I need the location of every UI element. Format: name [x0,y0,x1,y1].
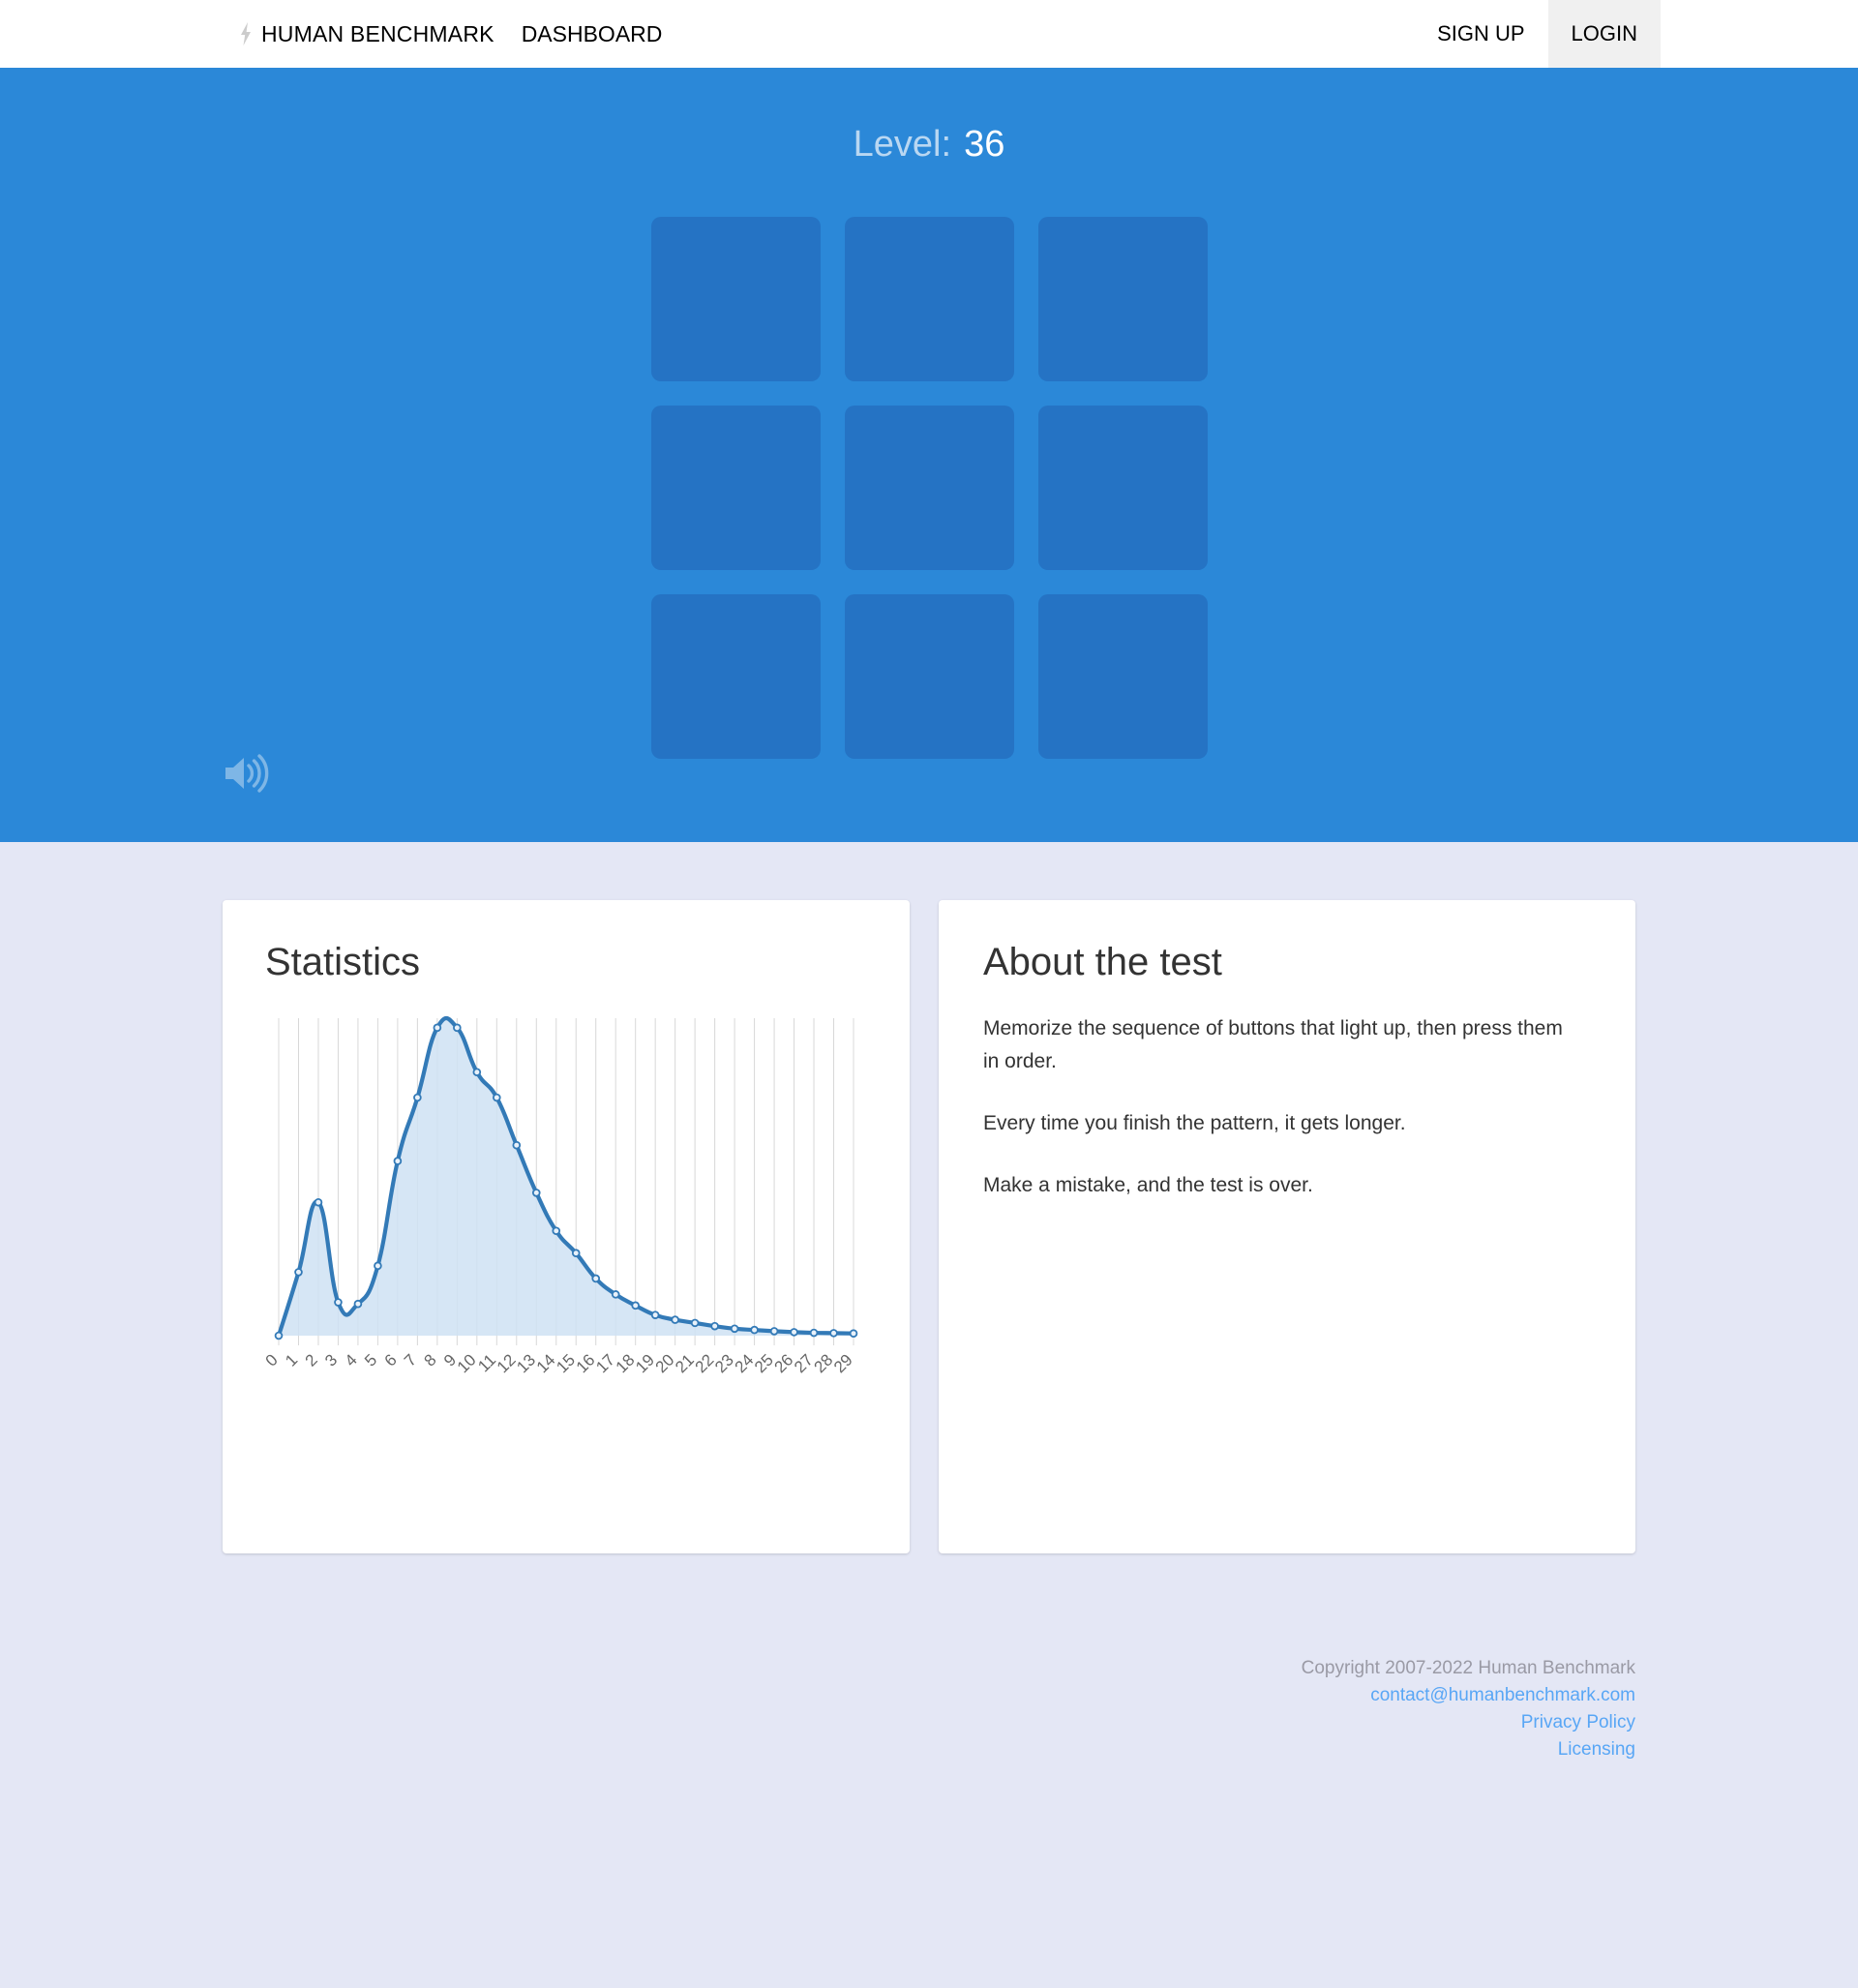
page-footer: Copyright 2007-2022 Human Benchmark cont… [223,1553,1635,1967]
x-axis-tick-label: 0 [265,1350,282,1370]
grid-cell-3[interactable] [1038,217,1208,381]
data-point [533,1190,540,1196]
x-axis-tick-label: 3 [321,1350,341,1370]
top-navbar: HUMAN BENCHMARK DASHBOARD SIGN UP LOGIN [0,0,1858,68]
navbar-right-group: SIGN UP LOGIN [1414,0,1661,68]
data-point [632,1302,639,1309]
data-point [494,1095,500,1101]
lightning-bolt-icon [238,22,254,45]
grid-cell-2[interactable] [845,217,1014,381]
speaker-volume-icon[interactable] [221,751,271,796]
level-indicator: Level: 36 [854,126,1005,163]
footer-contact-line: contact@humanbenchmark.com [223,1682,1635,1709]
data-point [276,1333,283,1340]
grid-cell-9[interactable] [1038,594,1208,759]
licensing-link[interactable]: Licensing [1558,1736,1635,1763]
grid-cell-7[interactable] [651,594,821,759]
grid-cell-8[interactable] [845,594,1014,759]
data-point [414,1095,421,1101]
x-axis-tick-label: 8 [421,1350,440,1370]
x-axis-tick-label: 4 [342,1350,361,1370]
level-label: Level: [854,126,951,163]
x-axis-tick-label: 1 [282,1350,301,1370]
data-point [295,1269,302,1276]
x-axis-tick-label: 7 [401,1350,420,1370]
statistics-chart: 0123456789101112131415161718192021222324… [265,1009,865,1425]
footer-copyright-line: Copyright 2007-2022 Human Benchmark [223,1655,1635,1682]
data-point [851,1330,857,1337]
data-point [811,1330,818,1337]
data-point [473,1069,480,1075]
data-point [315,1199,322,1206]
nav-item-dashboard[interactable]: DASHBOARD [500,0,684,68]
data-point [553,1227,559,1234]
data-point [771,1328,778,1335]
data-point [573,1250,580,1256]
nav-item-login[interactable]: LOGIN [1548,0,1661,68]
x-axis-tick-label: 5 [361,1350,380,1370]
distribution-area-chart: 0123456789101112131415161718192021222324… [265,1009,865,1425]
copyright-text: Copyright 2007-2022 Human Benchmark [1302,1658,1635,1678]
content-cards-row: Statistics 01234567891011121314151617181… [223,842,1635,1553]
data-point [791,1329,797,1336]
about-paragraph-1: Memorize the sequence of buttons that li… [983,1012,1564,1078]
data-point [692,1319,699,1326]
about-title: About the test [983,941,1591,983]
data-point [335,1299,342,1306]
about-card: About the test Memorize the sequence of … [939,900,1635,1553]
data-point [513,1142,520,1149]
contact-email-link[interactable]: contact@humanbenchmark.com [1370,1682,1635,1709]
data-point [830,1330,837,1337]
brand-title: HUMAN BENCHMARK [261,21,494,47]
area-fill [279,1018,854,1336]
brand-logo-link[interactable]: HUMAN BENCHMARK [232,0,500,68]
data-point [375,1262,381,1269]
x-axis-tick-label: 2 [302,1350,321,1370]
x-axis-tick-label: 6 [381,1350,401,1370]
data-point [454,1024,461,1031]
game-hero-section: Level: 36 [0,68,1858,842]
data-point [751,1327,758,1334]
footer-licensing-line: Licensing [223,1736,1635,1763]
data-point [732,1325,738,1332]
data-point [711,1323,718,1330]
data-point [652,1311,659,1318]
footer-privacy-line: Privacy Policy [223,1709,1635,1736]
about-paragraph-3: Make a mistake, and the test is over. [983,1169,1564,1202]
grid-cell-5[interactable] [845,406,1014,570]
data-point [672,1316,678,1323]
data-point [394,1158,401,1164]
grid-cell-1[interactable] [651,217,821,381]
level-value: 36 [964,126,1004,163]
data-point [613,1291,619,1298]
x-axis-tick-label: 29 [830,1350,856,1376]
data-point [592,1276,599,1282]
statistics-card: Statistics 01234567891011121314151617181… [223,900,910,1553]
navbar-left-group: HUMAN BENCHMARK DASHBOARD [232,0,683,68]
about-paragraph-2: Every time you finish the pattern, it ge… [983,1107,1564,1140]
grid-cell-6[interactable] [1038,406,1208,570]
grid-cell-4[interactable] [651,406,821,570]
data-point [355,1301,362,1308]
nav-item-sign-up[interactable]: SIGN UP [1414,0,1547,68]
data-point [434,1024,440,1031]
sequence-grid [651,217,1208,759]
privacy-policy-link[interactable]: Privacy Policy [1521,1709,1635,1736]
statistics-title: Statistics [265,941,867,983]
